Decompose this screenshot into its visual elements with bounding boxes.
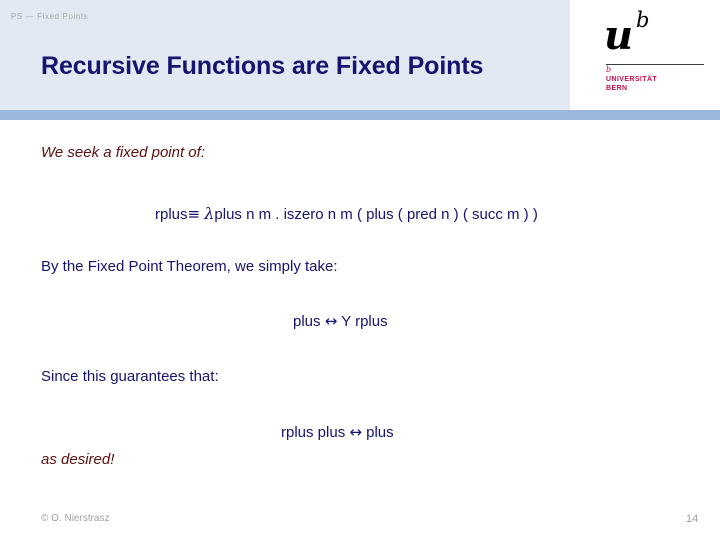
slide-body: We seek a fixed point of: rplus≡ λplus n… (0, 120, 720, 500)
double-arrow-symbol: ↔ (325, 312, 338, 330)
logo-b-superscript-glyph: b (636, 10, 649, 31)
logo-tick-glyph: b (606, 66, 611, 74)
text-by-fixed-point-theorem: By the Fixed Point Theorem, we simply ta… (41, 258, 338, 275)
formula-rplus-head: rplus (155, 206, 188, 223)
deck-kicker: PS — Fixed Points (11, 12, 88, 21)
formula-rplus-plus-equals-plus: rplus plus ↔ plus (281, 423, 394, 441)
footer-copyright: © O. Nierstrasz (41, 513, 110, 524)
formula-plus-tail: Y rplus (341, 313, 387, 330)
header-rule (0, 110, 720, 120)
formula-rpp-head: rplus plus (281, 424, 345, 441)
formula-plus-equals-y-rplus: plus ↔ Y rplus (293, 312, 388, 330)
formula-plus-head: plus (293, 313, 321, 330)
formula-rplus-tail: plus n m . iszero n m ( plus ( pred n ) … (214, 206, 537, 223)
text-as-desired: as desired! (41, 451, 114, 468)
page-title: Recursive Functions are Fixed Points (41, 52, 483, 81)
slide-header: PS — Fixed Points Recursive Functions ar… (0, 0, 720, 120)
logo-wordmark: UNIVERSITÄT BERN (606, 75, 657, 93)
text-since-this-guarantees: Since this guarantees that: (41, 368, 219, 385)
logo-u-glyph: u (604, 16, 633, 56)
lambda-symbol: λ (204, 204, 214, 223)
footer-page-number: 14 (686, 513, 698, 525)
university-bern-logo: u b b UNIVERSITÄT BERN (604, 16, 704, 98)
formula-rpp-tail: plus (366, 424, 394, 441)
equivalence-symbol: ≡ (188, 205, 201, 223)
text-we-seek-fixed-point: We seek a fixed point of: (41, 144, 205, 161)
logo-divider (606, 64, 704, 65)
formula-rplus-definition: rplus≡ λplus n m . iszero n m ( plus ( p… (155, 204, 538, 223)
double-arrow-symbol-2: ↔ (349, 423, 362, 441)
